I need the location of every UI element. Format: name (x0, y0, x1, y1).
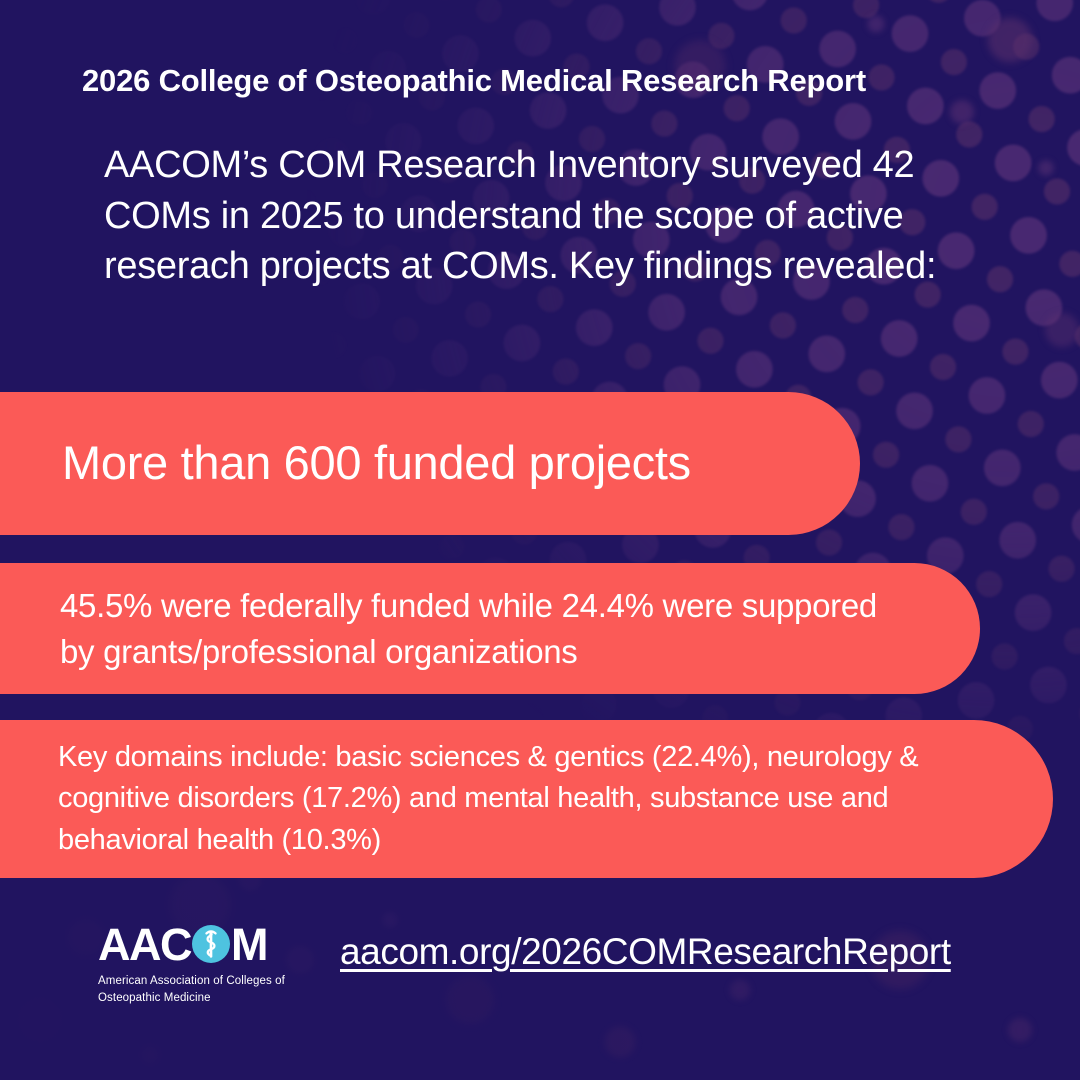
highlight-text-funding-sources: 45.5% were federally funded while 24.4% … (60, 583, 900, 674)
report-url-link[interactable]: aacom.org/2026COMResearchReport (340, 931, 951, 973)
logo-tagline-line-1: American Association of Colleges of (98, 973, 298, 990)
highlight-pill-key-domains: Key domains include: basic sciences & ge… (0, 720, 1053, 878)
logo-letters-before: AAC (98, 922, 191, 967)
infographic-poster: 2026 College of Osteopathic Medical Rese… (0, 0, 1080, 1080)
highlight-text-funded-projects: More than 600 funded projects (62, 436, 691, 490)
logo-tagline: American Association of Colleges of Oste… (98, 973, 298, 1006)
logo-tagline-line-2: Osteopathic Medicine (98, 990, 298, 1007)
caduceus-icon (192, 925, 230, 963)
aacom-logo: AAC M American Association of Colleges o… (98, 922, 298, 1006)
highlight-pill-funding-sources: 45.5% were federally funded while 24.4% … (0, 563, 980, 694)
poster-content: 2026 College of Osteopathic Medical Rese… (0, 0, 1080, 1080)
highlight-text-key-domains: Key domains include: basic sciences & ge… (58, 737, 983, 861)
intro-paragraph: AACOM’s COM Research Inventory surveyed … (104, 140, 984, 292)
highlight-pill-funded-projects: More than 600 funded projects (0, 392, 860, 535)
page-title: 2026 College of Osteopathic Medical Rese… (82, 62, 1022, 99)
logo-letters-after: M (231, 922, 267, 967)
logo-wordmark: AAC M (98, 922, 298, 966)
